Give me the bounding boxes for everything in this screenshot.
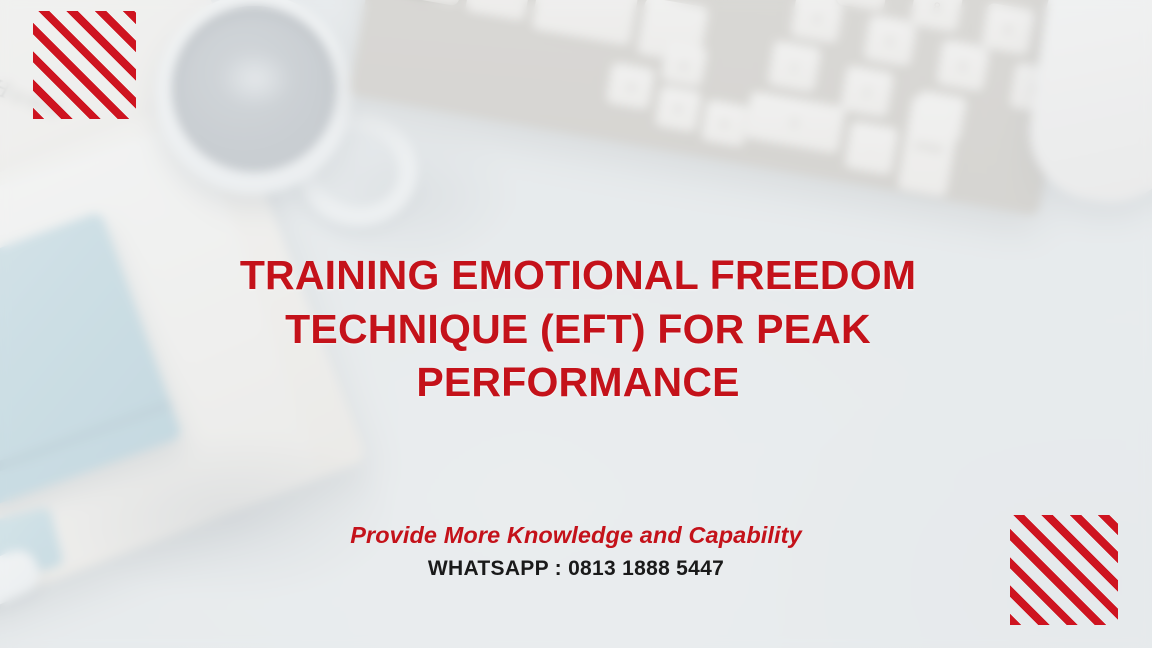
promo-banner: Work at Home ◂ ▴ ▾ ▸ 4 7 5 8 6 — [0, 0, 1152, 648]
tagline: Provide More Knowledge and Capability — [0, 522, 1152, 549]
page-title: TRAINING EMOTIONAL FREEDOM TECHNIQUE (EF… — [196, 249, 960, 409]
title-line-2: TECHNIQUE (EFT) FOR PEAK — [285, 306, 871, 352]
title-line-1: TRAINING EMOTIONAL FREEDOM — [240, 252, 916, 298]
title-line-3: PERFORMANCE — [416, 359, 739, 405]
banner-content: TRAINING EMOTIONAL FREEDOM TECHNIQUE (EF… — [0, 0, 1152, 648]
whatsapp-contact: WHATSAPP : 0813 1888 5447 — [0, 557, 1152, 581]
